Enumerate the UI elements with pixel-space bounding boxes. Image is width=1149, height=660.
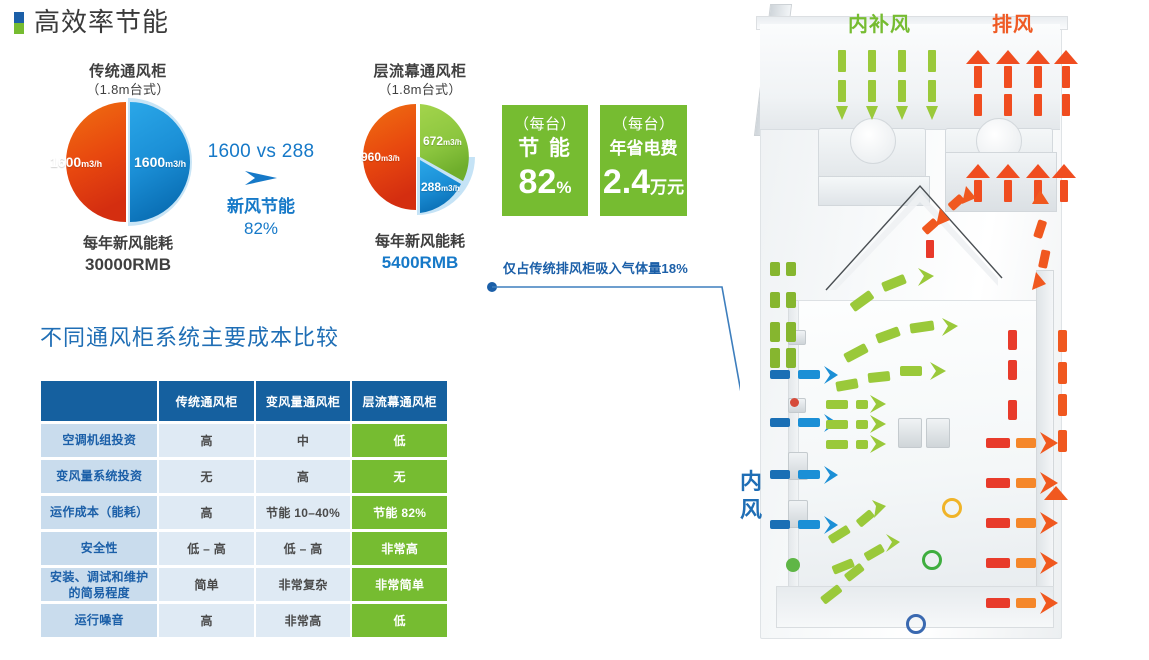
pie-slice-label-3: 960m3/h: [361, 148, 400, 166]
pie-slice-label-2: 1600m3/h: [134, 154, 186, 172]
cost-comparison-table: 传统通风柜 变风量通风柜 层流幕通风柜 空调机组投资 高 中 低 变风量系统投资…: [39, 378, 449, 640]
row-cell: 高: [159, 496, 253, 529]
diagram-label-supply-air: 内补风: [848, 8, 911, 37]
badge-2-top: （每台）: [612, 115, 674, 135]
table-row: 运作成本（能耗） 高 节能 10–40% 节能 82%: [41, 496, 447, 529]
section-title: 不同通风柜系统主要成本比较: [40, 320, 339, 352]
row-cell: 无: [159, 460, 253, 493]
vs-arrow-icon: [196, 168, 326, 193]
row-cell-highlight: 非常高: [352, 532, 447, 565]
table-col-traditional: 传统通风柜: [159, 381, 253, 421]
pie-block-laminar: 层流幕通风柜 （1.8m台式） 960m3/h 672m3/h 288m3/h: [330, 62, 510, 274]
row-cell: 中: [256, 424, 351, 457]
table-row: 变风量系统投资 无 高 无: [41, 460, 447, 493]
row-cell: 低 – 高: [256, 532, 351, 565]
page-header: 高效率节能: [14, 8, 169, 36]
pie-foot-label-traditional: 每年新风能耗: [38, 234, 218, 254]
row-cell: 高: [159, 604, 253, 637]
row-head: 安装、调试和维护的简易程度: [41, 568, 157, 601]
diagram-label-exhaust-air: 排风: [992, 8, 1034, 37]
table-col-laminar: 层流幕通风柜: [352, 381, 447, 421]
vs-comparison-block: 1600 vs 288 新风节能 82%: [196, 140, 326, 240]
room-supply-arrows-blue: [770, 366, 838, 534]
vs-saving-label: 新风节能: [196, 195, 326, 218]
row-cell-highlight: 节能 82%: [352, 496, 447, 529]
row-head: 运行噪音: [41, 604, 157, 637]
pie-slice-label-1: 1600m3/h: [50, 154, 102, 172]
badge-energy-saving: （每台） 节 能 82%: [502, 105, 588, 216]
row-head: 空调机组投资: [41, 424, 157, 457]
badge-annual-savings: （每台） 年省电费 2.4万元: [600, 105, 687, 216]
row-cell: 低 – 高: [159, 532, 253, 565]
table-header-row: 传统通风柜 变风量通风柜 层流幕通风柜: [41, 381, 447, 421]
row-head: 运作成本（能耗）: [41, 496, 157, 529]
table-row: 空调机组投资 高 中 低: [41, 424, 447, 457]
pie-footer-laminar: 每年新风能耗 5400RMB: [330, 232, 510, 274]
pie-footer-traditional: 每年新风能耗 30000RMB: [38, 234, 218, 276]
pie-chart-laminar: 960m3/h 672m3/h 288m3/h: [355, 98, 485, 216]
row-cell: 非常高: [256, 604, 351, 637]
callout-leader-line: [480, 270, 770, 490]
fume-hood-diagram: 内补风 排风 室内 新风: [740, 0, 1149, 660]
table-corner-cell: [41, 381, 157, 421]
pie-title-traditional: 传统通风柜: [38, 62, 218, 81]
pie-caption-traditional: 传统通风柜 （1.8m台式）: [38, 62, 218, 98]
pie-foot-label-laminar: 每年新风能耗: [330, 232, 510, 252]
diagram-label-room-air-line1: 室内: [740, 468, 763, 495]
table-row: 安装、调试和维护的简易程度 简单 非常复杂 非常简单: [41, 568, 447, 601]
pie-title-laminar: 层流幕通风柜: [330, 62, 510, 81]
badge-2-big: 2.4万元: [603, 163, 684, 207]
row-cell: 高: [256, 460, 351, 493]
pie-block-traditional: 传统通风柜 （1.8m台式）: [38, 62, 218, 276]
row-cell-highlight: 低: [352, 604, 447, 637]
pie-subtitle-traditional: （1.8m台式）: [38, 81, 218, 98]
badge-1-top: （每台）: [514, 115, 576, 135]
table-row: 安全性 低 – 高 低 – 高 非常高: [41, 532, 447, 565]
pie-slice-label-4: 672m3/h: [423, 132, 462, 150]
row-cell-highlight: 低: [352, 424, 447, 457]
badge-2-mid: 年省电费: [610, 135, 678, 163]
page-title: 高效率节能: [34, 8, 169, 36]
pie-foot-value-traditional: 30000RMB: [38, 254, 218, 276]
exhaust-stream-diagonal: [921, 186, 1068, 500]
supply-air-arrows-down: [836, 50, 938, 120]
row-cell: 非常复杂: [256, 568, 351, 601]
pie-chart-traditional: 1600m3/h 1600m3/h: [40, 98, 216, 226]
infographic-canvas: 高效率节能 传统通风柜 （1.8m台式）: [0, 0, 1149, 660]
diagram-label-room-air-line2: 新风: [740, 496, 763, 523]
exhaust-air-arrows-up: [966, 50, 1078, 202]
row-cell-highlight: 无: [352, 460, 447, 493]
row-head: 安全性: [41, 532, 157, 565]
vs-saving-value: 82%: [196, 218, 326, 240]
row-cell-highlight: 非常简单: [352, 568, 447, 601]
table-row: 运行噪音 高 非常高 低: [41, 604, 447, 637]
pie-slice-label-5: 288m3/h: [421, 178, 460, 196]
pie-subtitle-laminar: （1.8m台式）: [330, 81, 510, 98]
exhaust-side-arrows: [986, 330, 1058, 614]
badge-1-mid: 节 能: [518, 135, 572, 163]
pie-caption-laminar: 层流幕通风柜 （1.8m台式）: [330, 62, 510, 98]
airflow-arrows-overlay: [740, 0, 1149, 660]
row-cell: 高: [159, 424, 253, 457]
curtain-flow-arrows-green: [770, 262, 958, 605]
row-head: 变风量系统投资: [41, 460, 157, 493]
badge-1-big: 82%: [519, 163, 572, 207]
row-cell: 简单: [159, 568, 253, 601]
vs-ratio-text: 1600 vs 288: [196, 140, 326, 164]
table-col-vav: 变风量通风柜: [256, 381, 351, 421]
row-cell: 节能 10–40%: [256, 496, 351, 529]
header-mark-icon: [14, 12, 24, 34]
